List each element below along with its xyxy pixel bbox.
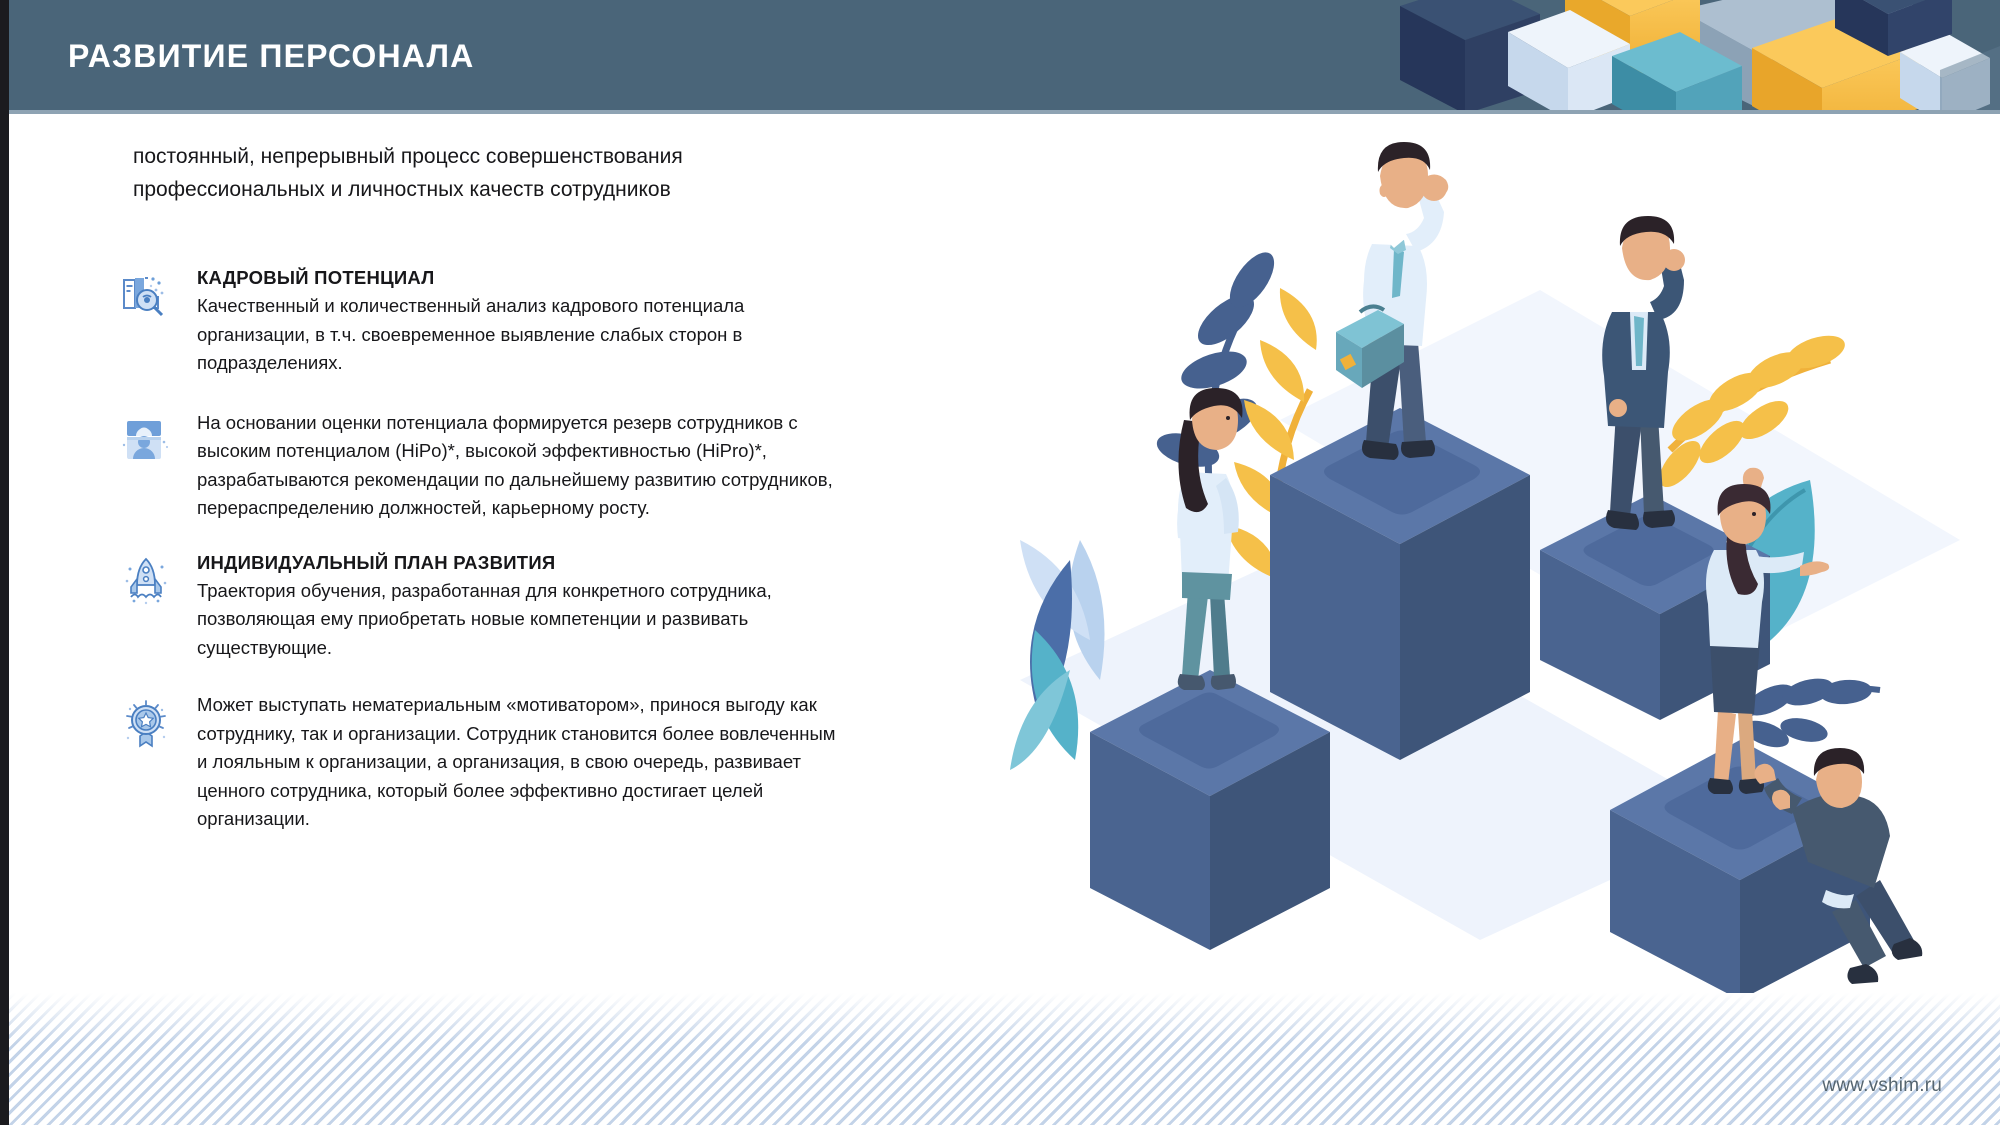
header-divider [0, 110, 2000, 114]
block-body: На основании оценки потенциала формирует… [197, 409, 1018, 523]
page-title: РАЗВИТИЕ ПЕРСОНАЛА [68, 38, 474, 75]
body-line: Траектория обучения, разработанная для к… [197, 577, 1018, 606]
block-body: Траектория обучения, разработанная для к… [197, 577, 1018, 663]
body-line: разрабатываются рекомендации по дальнейш… [197, 466, 1018, 495]
slide: РАЗВИТИЕ ПЕРСОНАЛА постоянный, непрерывн… [0, 0, 2000, 1125]
award-medal-icon [118, 694, 174, 750]
isometric-career-podium-illustration [980, 120, 2000, 1000]
body-line: подразделениях. [197, 349, 1018, 378]
content-block: ИНДИВИДУАЛЬНЫЙ ПЛАН РАЗВИТИЯ Траектория … [118, 549, 1018, 663]
body-line: сотруднику, так и организации. Сотрудник… [197, 720, 1018, 749]
content-blocks: КАДРОВЫЙ ПОТЕНЦИАЛ Качественный и количе… [118, 264, 1018, 860]
content-block: На основании оценки потенциала формирует… [118, 408, 1018, 523]
footer-stripe-band [0, 993, 2000, 1125]
body-line: На основании оценки потенциала формирует… [197, 409, 1018, 438]
body-line: организации, в т.ч. своевременное выявле… [197, 321, 1018, 350]
body-line: ценного сотрудника, который более эффект… [197, 777, 1018, 806]
block-text: КАДРОВЫЙ ПОТЕНЦИАЛ Качественный и количе… [197, 264, 1018, 378]
block-text: На основании оценки потенциала формирует… [197, 408, 1018, 523]
footer-url[interactable]: www.vshim.ru [1822, 1075, 1942, 1097]
body-line: Может выступать нематериальным «мотивато… [197, 691, 1018, 720]
block-text: ИНДИВИДУАЛЬНЫЙ ПЛАН РАЗВИТИЯ Траектория … [197, 549, 1018, 663]
body-line: Качественный и количественный анализ кад… [197, 292, 1018, 321]
document-magnifier-icon [118, 268, 174, 324]
block-text: Может выступать нематериальным «мотивато… [197, 690, 1018, 834]
body-line: организации. [197, 805, 1018, 834]
block-body: Может выступать нематериальным «мотивато… [197, 691, 1018, 834]
body-line: перераспределению должностей, карьерному… [197, 494, 1018, 523]
subtitle-line-1: постоянный, непрерывный процесс совершен… [133, 140, 893, 173]
body-line: высоким потенциалом (HiPo)*, высокой эфф… [197, 437, 1018, 466]
body-line: позволяющая ему приобретать новые компет… [197, 605, 1018, 634]
content-block: КАДРОВЫЙ ПОТЕНЦИАЛ Качественный и количе… [118, 264, 1018, 378]
block-title: ИНДИВИДУАЛЬНЫЙ ПЛАН РАЗВИТИЯ [197, 550, 1018, 575]
slide-subtitle: постоянный, непрерывный процесс совершен… [133, 140, 893, 206]
slide-header: РАЗВИТИЕ ПЕРСОНАЛА [0, 0, 2000, 114]
isometric-blocks-pattern-icon [1380, 0, 2000, 114]
block-title: КАДРОВЫЙ ПОТЕНЦИАЛ [197, 265, 1018, 290]
person-badge-icon [118, 412, 174, 468]
rocket-icon [118, 553, 174, 609]
body-line: и лояльным к организации, а организация,… [197, 748, 1018, 777]
block-body: Качественный и количественный анализ кад… [197, 292, 1018, 378]
content-block: Может выступать нематериальным «мотивато… [118, 690, 1018, 834]
body-line: существующие. [197, 634, 1018, 663]
left-edge-accent [0, 0, 9, 1125]
subtitle-line-2: профессиональных и личностных качеств со… [133, 173, 893, 206]
